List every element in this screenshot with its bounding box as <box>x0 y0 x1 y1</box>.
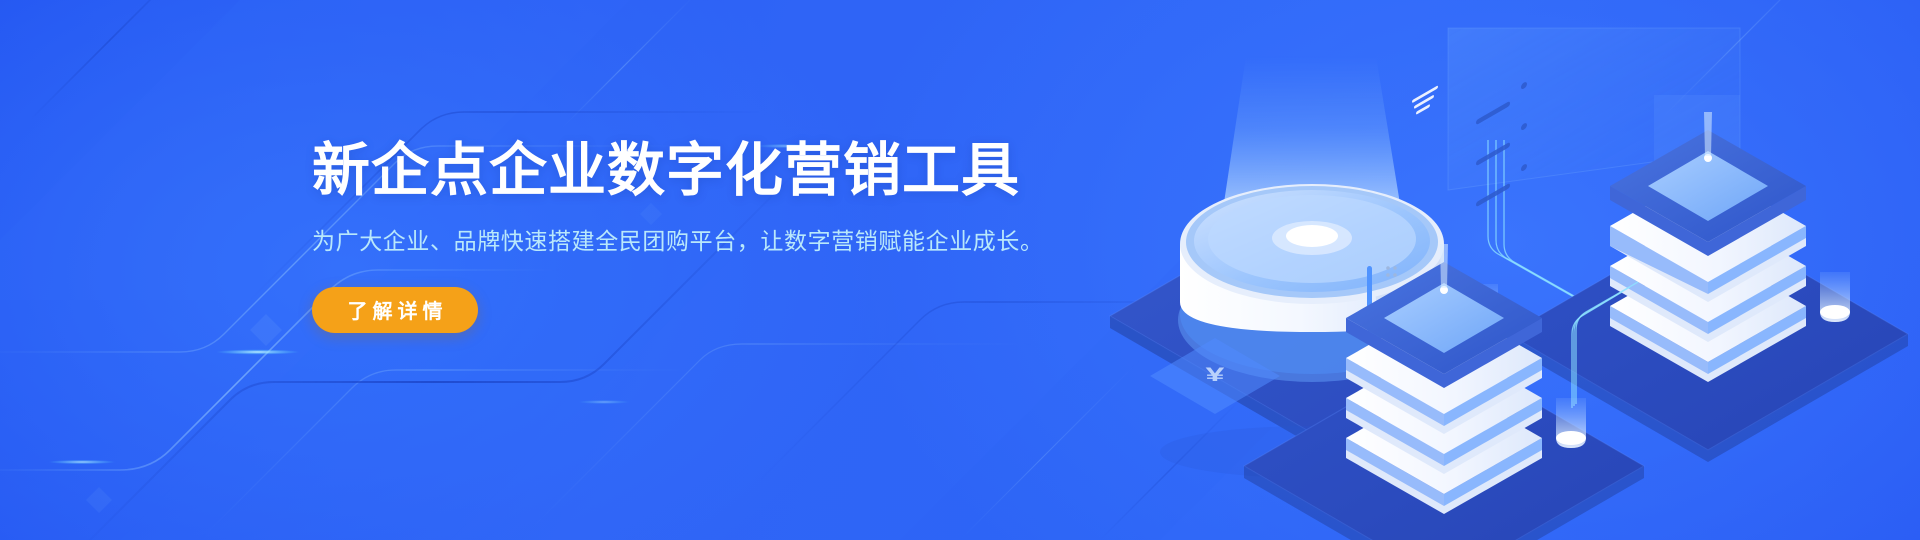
page-subtitle: 为广大企业、品牌快速搭建全民团购平台，让数字营销赋能企业成长。 <box>312 225 1012 257</box>
pillar-marker-upper <box>1820 272 1850 322</box>
page-title: 新企点企业数字化营销工具 <box>312 140 1012 203</box>
learn-more-button[interactable]: 了解详情 <box>312 287 478 333</box>
pillar-marker-lower <box>1556 398 1586 448</box>
cta-container: 了解详情 <box>312 287 1012 333</box>
yuan-icon: ¥ <box>1206 363 1226 385</box>
hero-copy: 新企点企业数字化营销工具 为广大企业、品牌快速搭建全民团购平台，让数字营销赋能企… <box>312 140 1012 333</box>
hero-banner: 新企点企业数字化营销工具 为广大企业、品牌快速搭建全民团购平台，让数字营销赋能企… <box>0 0 1920 540</box>
hero-illustration: ¥ <box>1040 0 1920 540</box>
isometric-scene-svg: ¥ <box>1040 0 1920 540</box>
